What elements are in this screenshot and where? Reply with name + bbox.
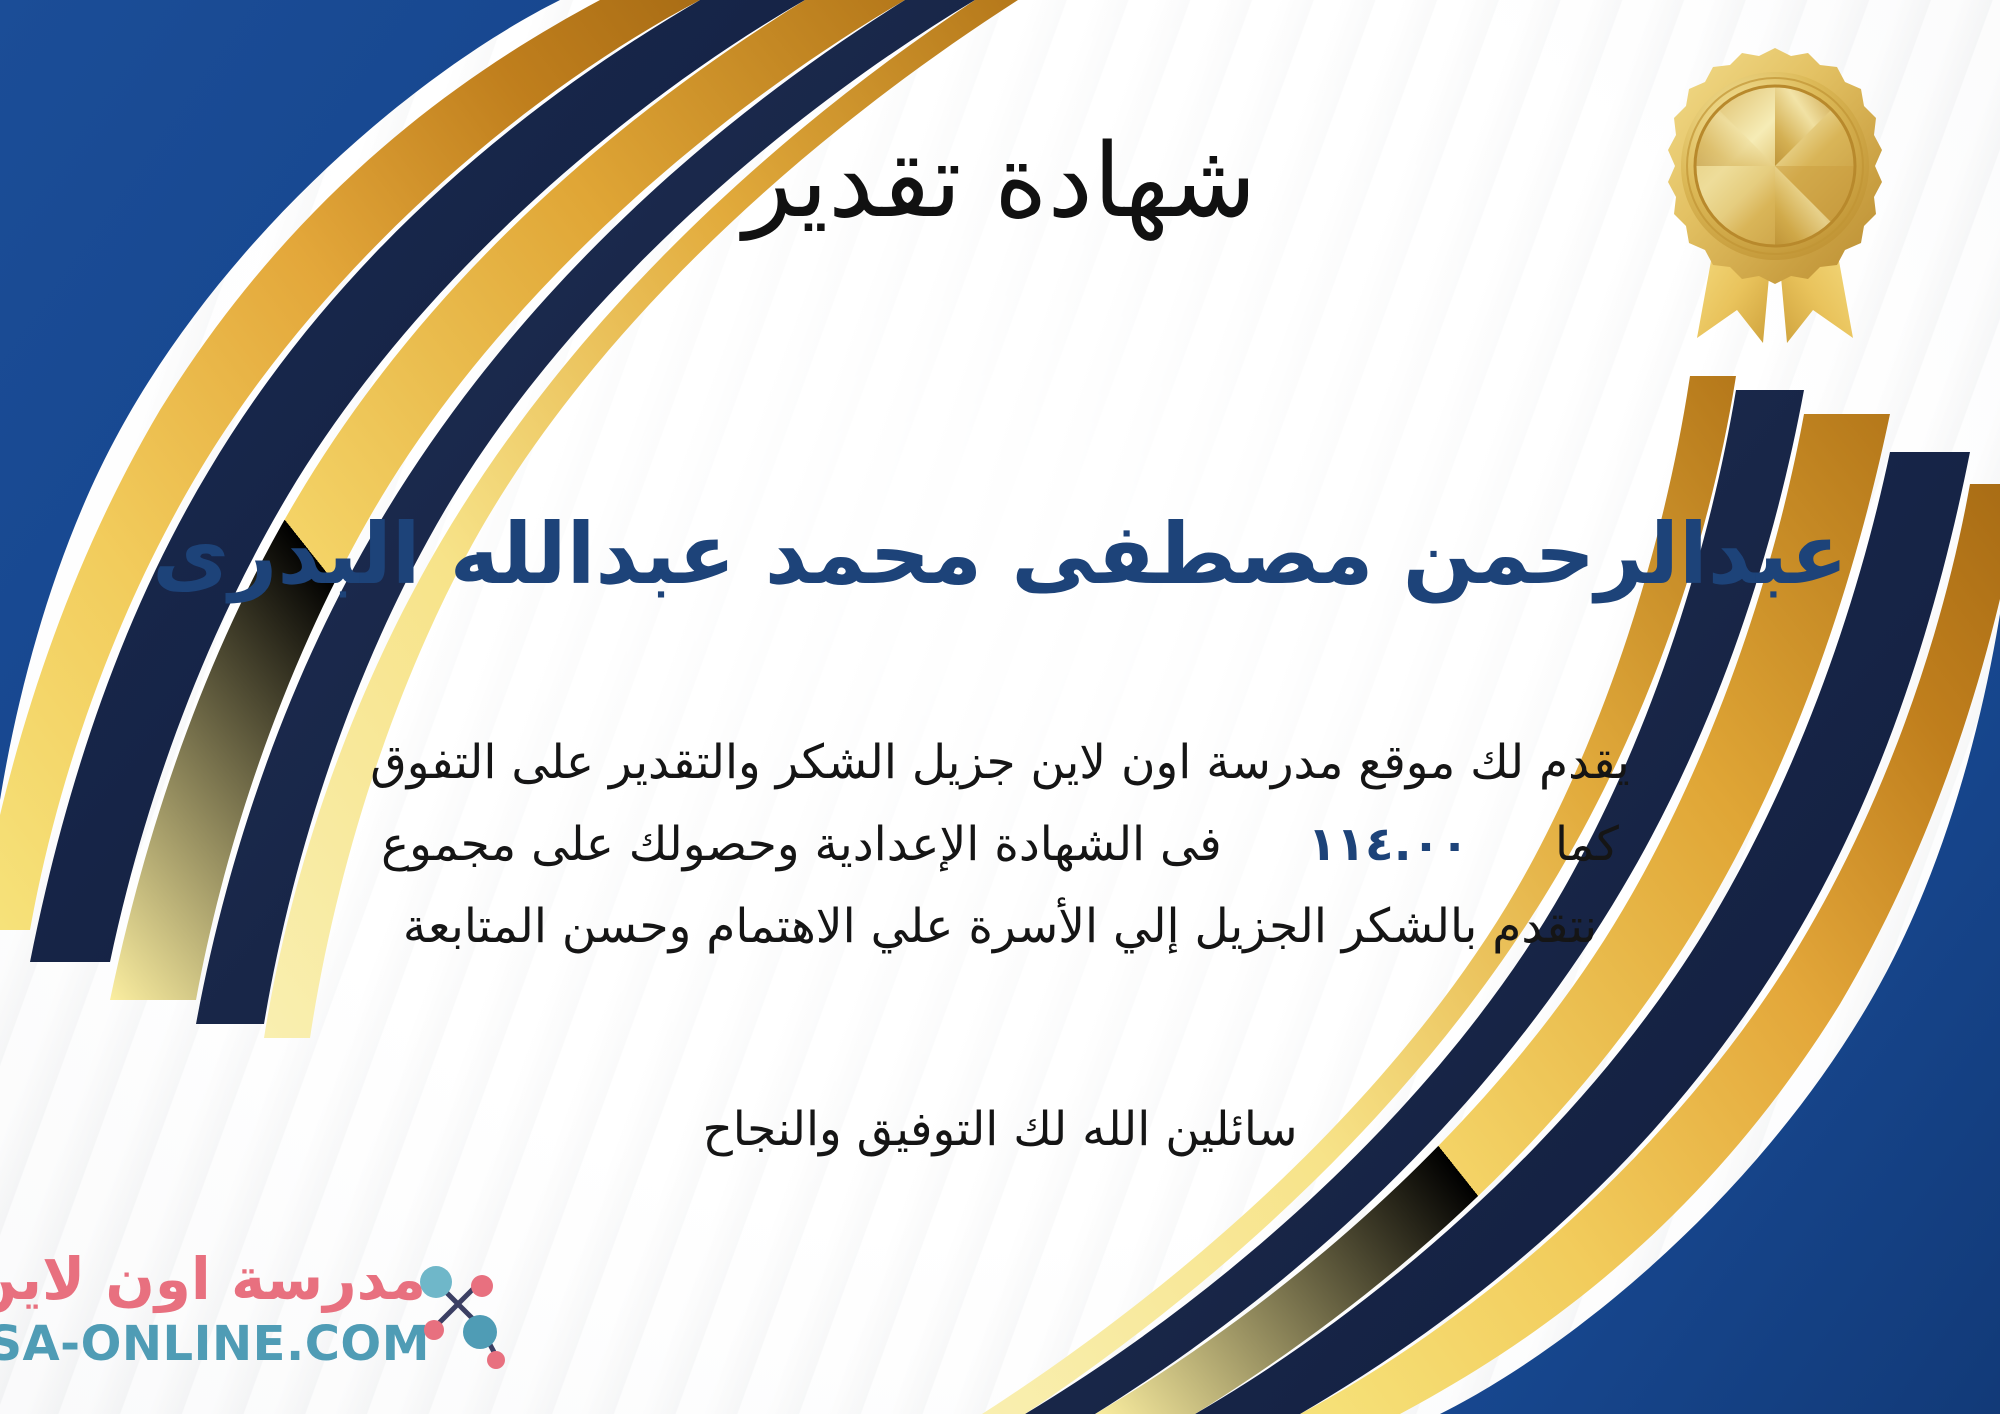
closing-wish: سائلين الله لك التوفيق والنجاح xyxy=(0,1092,2000,1167)
body-line-1: يقدم لك موقع مدرسة اون لاين جزيل الشكر و… xyxy=(55,722,1945,804)
network-nodes-icon xyxy=(410,1256,506,1374)
body-line-2-suffix: كما xyxy=(1555,817,1619,872)
certificate-page: شهادة تقدير عبدالرحمن مصطفى محمد عبدالله… xyxy=(0,0,2000,1414)
brand-website-url: MADRSA-ONLINE.COM xyxy=(0,1320,430,1368)
body-line-2-prefix: فى الشهادة الإعدادية وحصولك على مجموع xyxy=(381,817,1222,872)
recipient-name: عبدالرحمن مصطفى محمد عبدالله البدرى xyxy=(0,508,2000,600)
score-value: ١١٤.٠٠ xyxy=(1274,817,1503,872)
page-title: شهادة تقدير xyxy=(0,128,2000,235)
certificate-content: شهادة تقدير عبدالرحمن مصطفى محمد عبدالله… xyxy=(0,0,2000,1414)
body-line-2: كما١١٤.٠٠فى الشهادة الإعدادية وحصولك على… xyxy=(55,804,1945,886)
certificate-body: يقدم لك موقع مدرسة اون لاين جزيل الشكر و… xyxy=(55,722,1945,967)
brand-arabic-name: مدرسة اون لاين xyxy=(0,1250,426,1308)
body-line-3: نتقدم بالشكر الجزيل إلي الأسرة علي الاهت… xyxy=(55,886,1945,968)
brand-logo[interactable]: مدرسة اون لاين MADRSA-ONLINE.COM xyxy=(28,1246,498,1396)
